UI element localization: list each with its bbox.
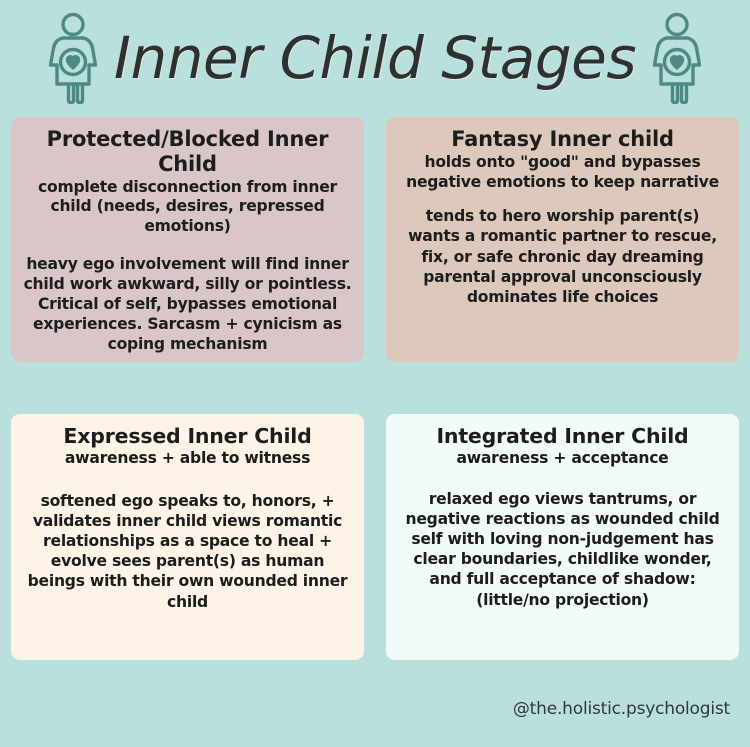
spacer (398, 192, 727, 206)
stage-card-fantasy: Fantasy Inner child holds onto "good" an… (386, 117, 739, 362)
stage-card-subtitle: holds onto "good" and bypasses negative … (398, 153, 727, 193)
page-header: Inner Child Stages (0, 0, 750, 112)
stage-card-title: Expressed Inner Child (23, 424, 352, 448)
spacer (23, 469, 352, 491)
stage-card-body: tends to hero worship parent(s) wants a … (398, 206, 727, 307)
stage-card-title: Integrated Inner Child (398, 424, 727, 448)
stage-card-integrated: Integrated Inner Child awareness + accep… (386, 414, 739, 660)
spacer (398, 469, 727, 489)
stage-card-body: relaxed ego views tantrums, or negative … (398, 489, 727, 610)
stage-card-body: heavy ego involvement will find inner ch… (23, 254, 352, 355)
stage-card-protected-blocked: Protected/Blocked Inner Child complete d… (11, 117, 364, 362)
stages-grid: Protected/Blocked Inner Child complete d… (11, 117, 739, 660)
author-handle: @the.holistic.psychologist (513, 699, 730, 719)
stage-card-subtitle: awareness + acceptance (398, 449, 727, 469)
inner-child-figure-icon-right (650, 12, 704, 104)
stage-card-subtitle: complete disconnection from inner child … (23, 178, 352, 237)
stage-card-subtitle: awareness + able to witness (23, 449, 352, 469)
stage-card-body: softened ego speaks to, honors, + valida… (23, 491, 352, 612)
page-title: Inner Child Stages (114, 29, 636, 87)
inner-child-figure-icon-left (46, 12, 100, 104)
stage-card-title: Protected/Blocked Inner Child (23, 127, 352, 177)
spacer (23, 237, 352, 254)
stage-card-expressed: Expressed Inner Child awareness + able t… (11, 414, 364, 660)
stage-card-title: Fantasy Inner child (398, 127, 727, 152)
